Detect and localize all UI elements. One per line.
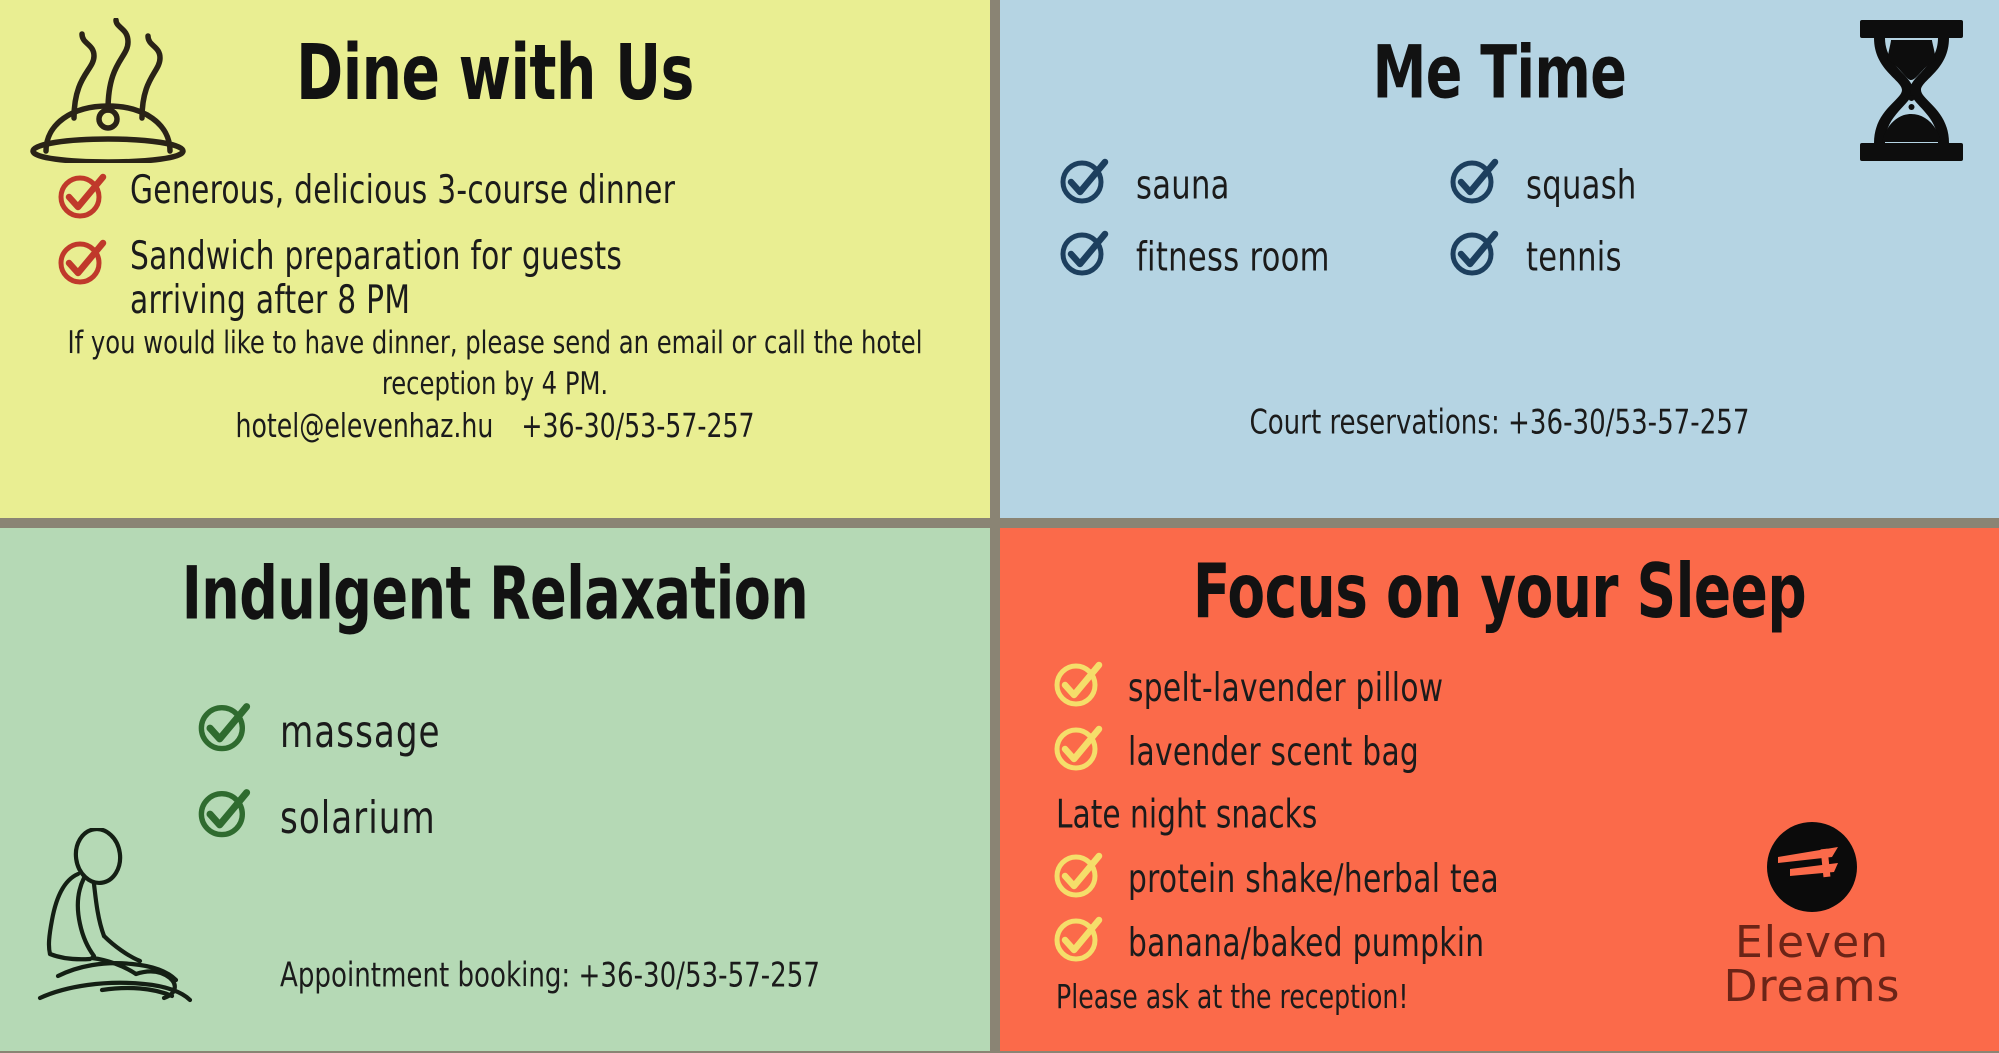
- panel-dine-with-us: Dine with Us Generous, delicious 3-cours…: [0, 0, 990, 518]
- list-item-label: lavender scent bag: [1128, 731, 1419, 775]
- list-item-label: tennis: [1526, 235, 1622, 280]
- check-circle-icon: [1052, 912, 1104, 968]
- list-item-label: massage: [280, 707, 441, 757]
- check-circle-icon: [1448, 154, 1500, 210]
- list-item: fitness room: [1058, 226, 1448, 282]
- check-circle-icon: [196, 784, 252, 844]
- panel-title-sleep: Focus on your Sleep: [1000, 528, 1999, 629]
- relax-footer: Appointment booking: +36-30/53-57-257: [150, 955, 950, 994]
- list-item: massage: [196, 698, 990, 758]
- list-item-label: banana/baked pumpkin: [1128, 922, 1484, 966]
- list-item-label: protein shake/herbal tea: [1128, 858, 1499, 902]
- brand-logo: Eleven Dreams: [1647, 819, 1977, 1009]
- dine-email[interactable]: hotel@elevenhaz.hu: [235, 407, 493, 445]
- sleep-items-top: spelt-lavender pillow lavender scent bag: [1000, 657, 1999, 777]
- list-item-label: Generous, delicious 3-course dinner: [130, 169, 675, 213]
- panel-focus-on-sleep: Focus on your Sleep spelt-lavender pillo…: [1000, 528, 1999, 1051]
- check-circle-icon: [56, 235, 108, 291]
- dine-items-list: Generous, delicious 3-course dinner Sand…: [0, 169, 990, 309]
- check-circle-icon: [56, 169, 108, 225]
- list-item-label: spelt-lavender pillow: [1128, 667, 1443, 711]
- list-item: tennis: [1448, 226, 1999, 282]
- list-item-label: sauna: [1136, 163, 1230, 208]
- list-item: lavender scent bag: [1052, 721, 1999, 777]
- check-circle-icon: [1058, 154, 1110, 210]
- metime-items-grid: sauna squash fitness roo: [1000, 154, 1999, 282]
- list-item-label: solarium: [280, 793, 436, 843]
- relax-items-list: massage solarium: [0, 698, 990, 844]
- metime-footer: Court reservations: +36-30/53-57-257: [1000, 402, 1999, 441]
- check-circle-icon: [1052, 721, 1104, 777]
- panel-me-time: Me Time sauna squash: [1000, 0, 1999, 518]
- list-item: solarium: [196, 784, 990, 844]
- list-item: Generous, delicious 3-course dinner: [56, 169, 990, 225]
- dine-note: If you would like to have dinner, please…: [0, 323, 990, 404]
- list-item-label: Sandwich preparation for guests arriving…: [130, 235, 740, 322]
- check-circle-icon: [1058, 226, 1110, 282]
- hotel-services-board: Dine with Us Generous, delicious 3-cours…: [0, 0, 1999, 1053]
- panel-indulgent-relaxation: Indulgent Relaxation massage: [0, 528, 990, 1051]
- panel-title-relaxation: Indulgent Relaxation: [0, 528, 990, 630]
- brand-name: Eleven Dreams: [1724, 917, 1901, 1012]
- panel-title-dine: Dine with Us: [0, 0, 990, 111]
- panel-title-me-time: Me Time: [1000, 0, 1999, 110]
- dine-contact-line: hotel@elevenhaz.hu +36-30/53-57-257: [0, 407, 990, 445]
- list-item: Sandwich preparation for guests arriving…: [56, 235, 990, 309]
- list-item-label: fitness room: [1136, 235, 1330, 280]
- list-item: spelt-lavender pillow: [1052, 657, 1999, 713]
- list-item-label: squash: [1526, 163, 1637, 208]
- check-circle-icon: [1448, 226, 1500, 282]
- dine-phone[interactable]: +36-30/53-57-257: [521, 407, 754, 445]
- check-circle-icon: [1052, 848, 1104, 904]
- list-item: sauna: [1058, 154, 1448, 210]
- check-circle-icon: [1052, 657, 1104, 713]
- eleven-dreams-logo-icon: [1647, 819, 1977, 919]
- check-circle-icon: [196, 698, 252, 758]
